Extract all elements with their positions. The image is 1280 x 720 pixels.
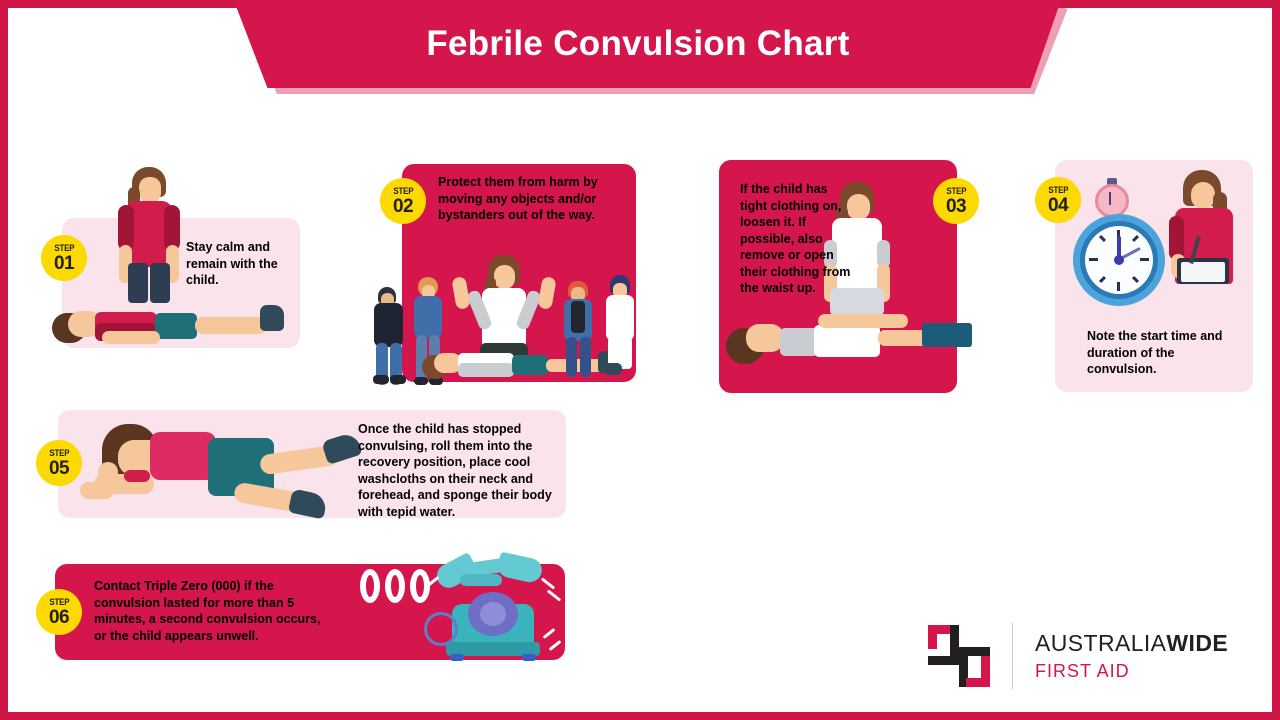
zero-glyph-2 — [385, 569, 405, 603]
footer-logo-band: AUSTRALIAWIDE FIRST AID — [812, 600, 1272, 712]
brand-name-part2: WIDE — [1166, 630, 1228, 656]
step-badge-3: STEP 03 — [933, 178, 979, 224]
step-badge-6-number: 06 — [49, 608, 69, 627]
step-6-text: Contact Triple Zero (000) if the convuls… — [94, 578, 322, 644]
step-badge-3-label: STEP — [946, 187, 966, 196]
step-badge-1: STEP 01 — [41, 235, 87, 281]
step-badge-5: STEP 05 — [36, 440, 82, 486]
page-title: Febrile Convulsion Chart — [426, 24, 849, 64]
step-badge-2: STEP 02 — [380, 178, 426, 224]
brand-name-part1: AUSTRALIA — [1035, 630, 1166, 656]
step-badge-5-number: 05 — [49, 459, 69, 478]
logo-divider — [1012, 623, 1013, 689]
step-badge-6: STEP 06 — [36, 589, 82, 635]
step-badge-6-label: STEP — [49, 598, 69, 607]
step-badge-2-number: 02 — [393, 197, 413, 216]
zero-glyph-1 — [360, 569, 380, 603]
step-badge-2-label: STEP — [393, 187, 413, 196]
step-badge-3-number: 03 — [946, 197, 966, 216]
brand-tagline: FIRST AID — [1035, 661, 1228, 682]
illustration-step-4 — [1065, 170, 1250, 320]
step-1-text: Stay calm and remain with the child. — [186, 239, 290, 289]
step-badge-4-label: STEP — [1048, 186, 1068, 195]
step-badge-1-label: STEP — [54, 244, 74, 253]
first-aid-cross-icon — [928, 625, 990, 687]
title-banner: Febrile Convulsion Chart — [0, 0, 1280, 104]
banner-shape: Febrile Convulsion Chart — [215, 0, 1061, 88]
step-5-text: Once the child has stopped convulsing, r… — [358, 421, 558, 520]
step-badge-1-number: 01 — [54, 254, 74, 273]
illustration-step-2 — [372, 255, 642, 383]
step-badge-4: STEP 04 — [1035, 177, 1081, 223]
emergency-number-000 — [360, 569, 430, 603]
step-3-text: If the child has tight clothing on, loos… — [740, 181, 852, 297]
illustration-step-5 — [62, 412, 372, 527]
brand-name: AUSTRALIAWIDE — [1035, 630, 1228, 657]
step-4-text: Note the start time and duration of the … — [1087, 328, 1227, 378]
step-badge-4-number: 04 — [1048, 196, 1068, 215]
infographic-root: Febrile Convulsion Chart Stay calm and r… — [0, 0, 1280, 720]
illustration-step-6 — [424, 556, 574, 666]
step-badge-5-label: STEP — [49, 449, 69, 458]
step-2-text: Protect them from harm by moving any obj… — [438, 174, 628, 224]
